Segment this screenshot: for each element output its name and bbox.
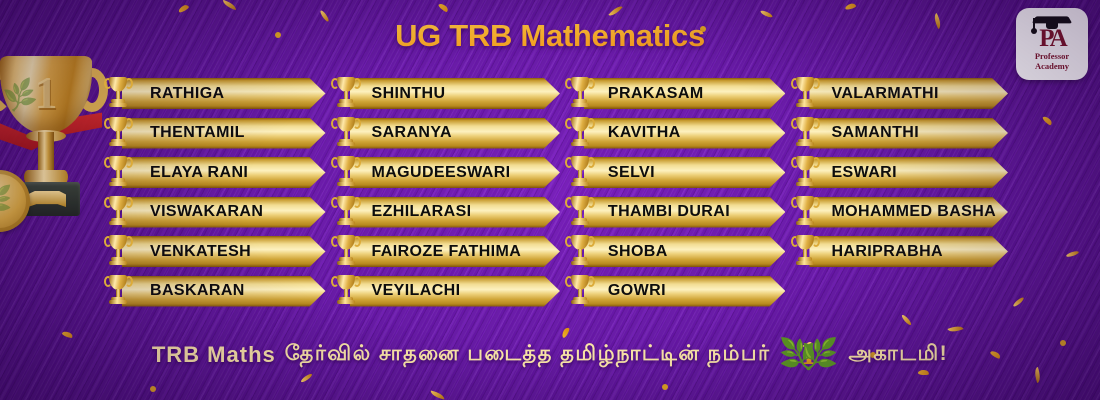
winner-name: THAMBI DURAI [584,204,730,220]
trophy-icon [332,115,360,151]
name-badge: MOHAMMED BASHA [809,197,1008,228]
trophy-icon [104,194,132,230]
trophy-icon [566,194,594,230]
winner-name: SHINTHU [350,86,446,102]
winner-name: ELAYA RANI [122,165,248,181]
winner-name: MOHAMMED BASHA [809,204,996,220]
winner-entry: GOWRI [570,276,786,307]
winner-entry: VISWAKARAN [108,197,326,228]
tagline-tamil-part1: தேர்வில் சாதனை படைத்த தமிழ்நாட்டின் நம்ப… [285,342,771,368]
confetti-piece [1066,250,1080,258]
trophy-icon [332,194,360,230]
name-badge: SHINTHU [350,78,560,109]
winners-column-4: VALARMATHI SAMANTHI ESWARI MOHAMMED BASH… [795,78,1008,307]
confetti-piece [1012,296,1025,307]
winner-name: FAIROZE FATHIMA [350,244,522,260]
trophy-icon [104,273,132,309]
trophy-icon [566,75,594,111]
winner-name: MAGUDEESWARI [350,165,511,181]
logo-line2: Academy [1035,61,1069,71]
winner-entry: BASKARAN [108,276,326,307]
trophy-icon [332,154,360,190]
confetti-piece [438,2,450,13]
trophy-icon [104,233,132,269]
confetti-piece [430,391,446,400]
winner-entry: SELVI [570,157,786,188]
laurel-right-icon: 🌿 [801,340,838,370]
rank-one-laurel-icon: 🌿 1 🌿 [780,332,838,378]
winner-entry: ELAYA RANI [108,157,326,188]
trophy-icon [566,154,594,190]
name-badge: PRAKASAM [584,78,786,109]
winner-entry: FAIROZE FATHIMA [336,236,560,267]
trophy-icon [566,233,594,269]
winner-name: PRAKASAM [584,86,704,102]
winner-entry: SAMANTHI [795,118,1008,149]
winner-name: BASKARAN [122,283,245,299]
name-badge: SHOBA [584,236,786,267]
winner-entry: THENTAMIL [108,118,326,149]
name-badge: THAMBI DURAI [584,197,786,228]
winner-name: VALARMATHI [809,86,938,102]
winner-entry: VALARMATHI [795,78,1008,109]
winner-name: GOWRI [584,283,666,299]
name-badge: VISWAKARAN [122,197,326,228]
winner-name: ESWARI [809,165,897,181]
name-badge: HARIPRABHA [809,236,1008,267]
trophy-icon [566,115,594,151]
winner-entry: EZHILARASI [336,197,560,228]
winner-entry: VEYILACHI [336,276,560,307]
winner-name: SHOBA [584,244,668,260]
tagline: TRB Maths தேர்வில் சாதனை படைத்த தமிழ்நாட… [0,332,1100,378]
promo-banner: 🌿 1 UG TRB Mathematics PA Professor Acad… [0,0,1100,400]
winner-name: SAMANTHI [809,125,919,141]
name-badge: BASKARAN [122,276,326,307]
trophy-icon [791,194,819,230]
winner-name: THENTAMIL [122,125,245,141]
winner-entry: MOHAMMED BASHA [795,197,1008,228]
trophy-icon [104,75,132,111]
name-badge: KAVITHA [584,118,786,149]
trophy-icon [791,75,819,111]
winner-entry: HARIPRABHA [795,236,1008,267]
winners-column-3: PRAKASAM KAVITHA SELVI THAMBI DURAI SHOB… [570,78,786,307]
winner-entry: MAGUDEESWARI [336,157,560,188]
name-badge: VENKATESH [122,236,326,267]
confetti-piece [662,384,668,390]
trophy-stem [38,132,54,174]
winner-name: EZHILARASI [350,204,472,220]
winner-name: SELVI [584,165,655,181]
winner-entry: SHINTHU [336,78,560,109]
name-badge: ELAYA RANI [122,157,326,188]
logo-monogram: PA [1027,25,1077,53]
winner-name: SARANYA [350,125,452,141]
logo[interactable]: PA Professor Academy [1016,8,1088,80]
trophy-number: 1 [0,66,92,119]
name-badge: RATHIGA [122,78,326,109]
winners-column-2: SHINTHU SARANYA MAGUDEESWARI EZHILARASI … [336,78,560,307]
winner-entry: SHOBA [570,236,786,267]
winner-entry: THAMBI DURAI [570,197,786,228]
winner-name: VENKATESH [122,244,251,260]
confetti-piece [150,386,156,392]
trophy-icon [104,115,132,151]
confetti-piece [177,4,189,14]
logo-text: Professor Academy [1035,51,1069,71]
trophy-icon [332,233,360,269]
trophy-icon [332,75,360,111]
trophy-icon [791,154,819,190]
name-badge: SELVI [584,157,786,188]
winner-entry: RATHIGA [108,78,326,109]
name-badge: THENTAMIL [122,118,326,149]
tagline-tamil-part2: அகாடமி! [849,342,949,368]
winner-entry: PRAKASAM [570,78,786,109]
trophy-icon [332,273,360,309]
confetti-piece [608,3,622,18]
tagline-english: TRB Maths [152,342,276,368]
trophy-icon [791,115,819,151]
page-title: UG TRB Mathematics [0,18,1100,54]
trophy-icon [791,233,819,269]
winner-entry: VENKATESH [108,236,326,267]
winner-name: RATHIGA [122,86,225,102]
winner-name: HARIPRABHA [809,244,943,260]
name-badge: ESWARI [809,157,1008,188]
name-badge: SARANYA [350,118,560,149]
winner-entry: SARANYA [336,118,560,149]
name-badge: SAMANTHI [809,118,1008,149]
trophy-icon [104,154,132,190]
name-badge: VALARMATHI [809,78,1008,109]
winner-entry: ESWARI [795,157,1008,188]
confetti-piece [221,0,237,10]
graduation-cap-icon: PA [1027,13,1077,53]
confetti-piece [845,3,857,11]
confetti-piece [901,314,913,326]
winner-entry: KAVITHA [570,118,786,149]
name-badge: VEYILACHI [350,276,560,307]
winner-name: KAVITHA [584,125,681,141]
trophy-icon [566,273,594,309]
winner-name: VEYILACHI [350,283,461,299]
name-badge: EZHILARASI [350,197,560,228]
name-badge: MAGUDEESWARI [350,157,560,188]
winners-column-1: RATHIGA THENTAMIL ELAYA RANI VISWAKARAN … [108,78,326,307]
confetti-piece [1042,115,1053,126]
winners-grid: RATHIGA THENTAMIL ELAYA RANI VISWAKARAN … [108,78,1008,307]
name-badge: FAIROZE FATHIMA [350,236,560,267]
name-badge: GOWRI [584,276,786,307]
winner-name: VISWAKARAN [122,204,263,220]
